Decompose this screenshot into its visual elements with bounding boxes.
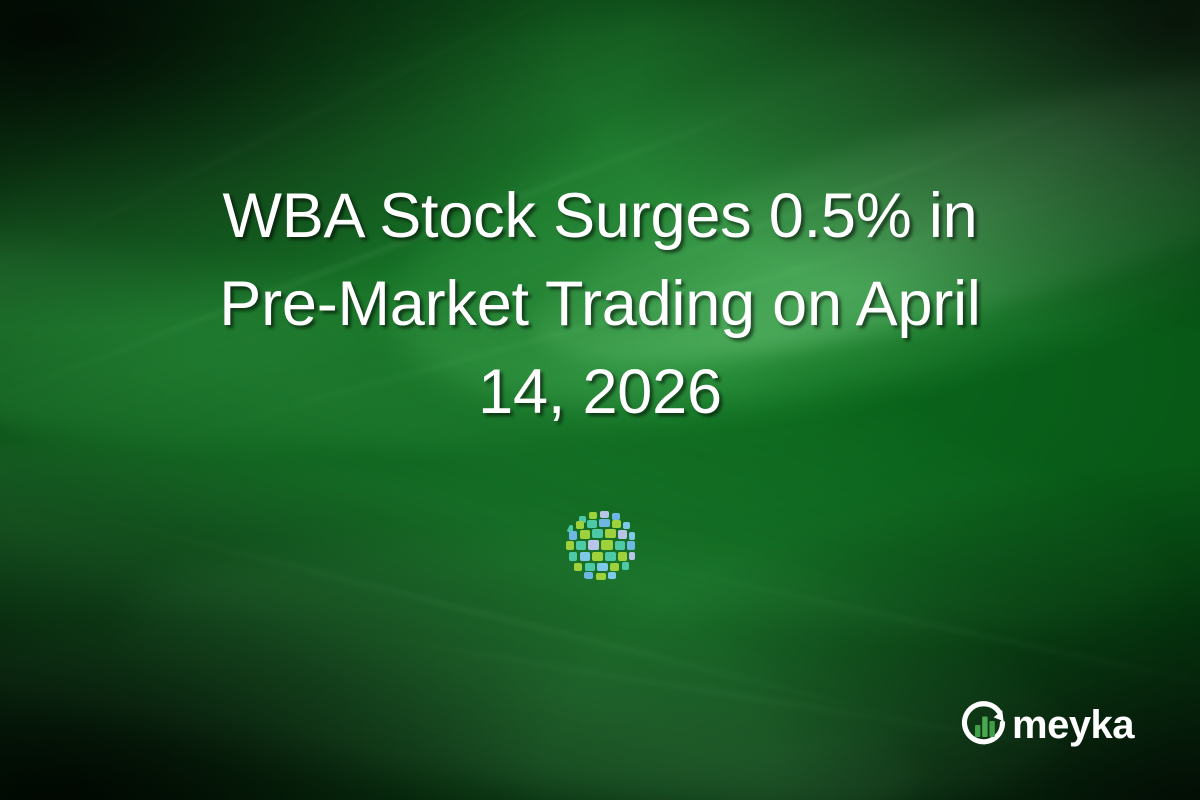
card-content: WBA Stock Surges 0.5% in Pre-Market Trad…: [0, 0, 1200, 800]
tiled-globe-icon: [562, 506, 640, 584]
circular-arrow-bar-chart-icon: [958, 698, 1010, 750]
brand-wordmark: meyka: [1012, 705, 1134, 745]
brand-logo: meyka: [958, 698, 1134, 750]
page-title: WBA Stock Surges 0.5% in Pre-Market Trad…: [0, 172, 1200, 436]
social-share-card: WBA Stock Surges 0.5% in Pre-Market Trad…: [0, 0, 1200, 800]
